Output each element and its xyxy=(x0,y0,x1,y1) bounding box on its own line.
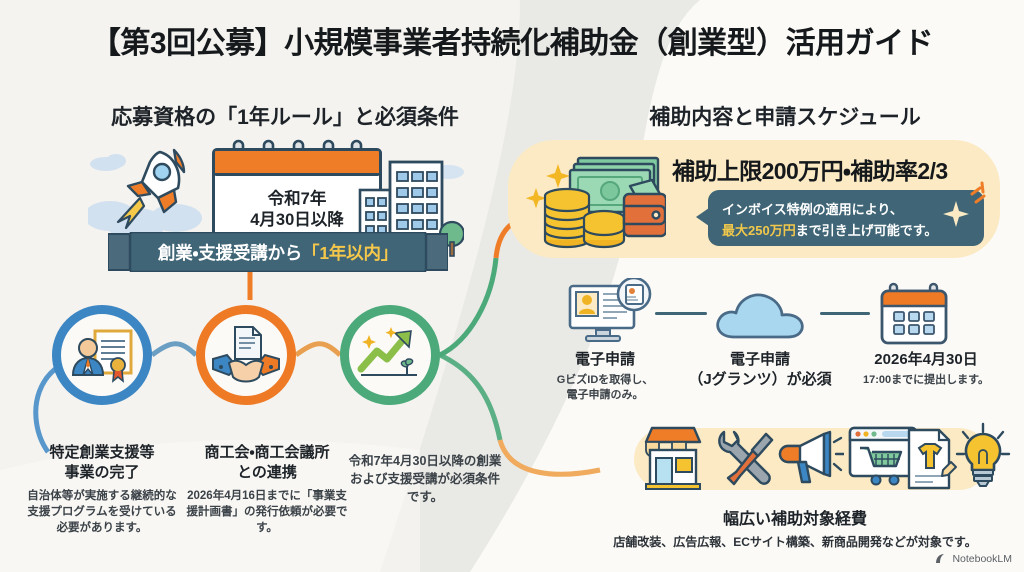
step-caption-chamber: 商工会・商工会議所 との連携 2026年4月16日までに「事業支援計画書」の発行… xyxy=(182,443,352,537)
schedule-caption-eapply: 電子申請 GビズIDを取得し、 電子申請のみ。 xyxy=(535,350,675,404)
megaphone-icon xyxy=(778,430,844,493)
step-circle-certification xyxy=(52,305,152,405)
step-caption-certification: 特定創業支援等 事業の完了 自治体等が実施する継続的な支援プログラムを受けている… xyxy=(24,443,180,537)
step-caption-growth: 令和7年4月30日以降の創業および支援受講が必須条件です。 xyxy=(344,448,506,506)
flow-line-2 xyxy=(820,312,870,315)
certificate-person-icon xyxy=(61,314,143,396)
schedule1-desc1: GビズIDを取得し、 xyxy=(535,373,675,389)
step1-title-line2: 事業の完了 xyxy=(24,463,180,483)
schedule-caption-jgrants: 電子申請 （Jグランツ）が必須 xyxy=(680,350,840,389)
schedule2-title-line1: 電子申請 xyxy=(680,350,840,370)
tools-icon xyxy=(714,428,776,495)
step2-title-line2: との連携 xyxy=(182,463,352,483)
infographic-canvas: 【第3回公募】小規模事業者持続化補助金（創業型）活用ガイド 応募資格の「1年ルー… xyxy=(0,0,1024,572)
step3-desc: 令和7年4月30日以降の創業および支援受講が必須条件です。 xyxy=(344,453,506,506)
schedule3-title: 2026年4月30日 xyxy=(840,350,1012,370)
schedule-caption-deadline: 2026年4月30日 17:00までに提出します。 xyxy=(840,350,1012,388)
lightbulb-icon xyxy=(955,422,1011,493)
monitor-id-icon xyxy=(566,278,656,351)
schedule3-desc1: 17:00までに提出します。 xyxy=(840,373,1012,389)
expenses-desc: 店舗改装、広告広報、ECサイト構築、新商品開発などが対象です。 xyxy=(560,533,1024,550)
bubble-rest: まで引き上げ可能です。 xyxy=(796,223,938,238)
bubble-line1: インボイス特例の適用により、 xyxy=(722,199,903,218)
step-circle-chamber xyxy=(196,305,296,405)
step-circle-growth xyxy=(340,305,440,405)
watermark: NotebookLM xyxy=(935,553,1012,565)
subsidy-headline: 補助上限200万円・補助率2/3 xyxy=(672,152,990,186)
expenses-title: 幅広い補助対象経費 xyxy=(560,505,1024,529)
step1-title-line1: 特定創業支援等 xyxy=(24,443,180,463)
money-wallet-icon xyxy=(534,150,666,254)
storefront-icon xyxy=(642,424,704,495)
schedule1-desc2: 電子申請のみ。 xyxy=(535,388,675,404)
step2-title-line1: 商工会・商工会議所 xyxy=(182,443,352,463)
schedule2-title-line2: （Jグランツ）が必須 xyxy=(680,370,840,390)
bubble-highlight: 最大250万円 xyxy=(722,223,796,238)
growth-arrow-plant-icon xyxy=(349,314,431,396)
invoice-exception-bubble: インボイス特例の適用により、 最大250万円まで引き上げ可能です。 xyxy=(708,190,984,246)
watermark-label: NotebookLM xyxy=(952,553,1012,565)
expenses-caption: 幅広い補助対象経費 店舗改装、広告広報、ECサイト構築、新商品開発などが対象です… xyxy=(560,505,1024,550)
bubble-line2: 最大250万円まで引き上げ可能です。 xyxy=(722,220,937,239)
cloud-icon xyxy=(712,285,808,348)
burst-icon xyxy=(966,178,1000,212)
step2-desc: 2026年4月16日までに「事業支援計画書」の発行依頼が必要です。 xyxy=(182,488,352,537)
handshake-document-icon xyxy=(205,314,287,396)
flow-line-1 xyxy=(655,312,707,315)
schedule1-title: 電子申請 xyxy=(535,350,675,370)
calendar-icon xyxy=(878,282,956,351)
notebooklm-icon xyxy=(935,553,947,565)
step1-desc: 自治体等が実施する継続的な支援プログラムを受けている必要があります。 xyxy=(24,488,180,537)
